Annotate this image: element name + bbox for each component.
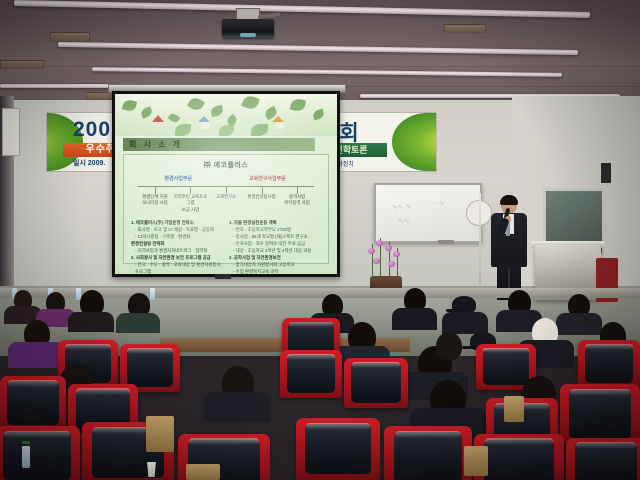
orchid-bloom (376, 240, 383, 246)
auditorium-seat (578, 340, 640, 388)
auditorium-seat (566, 438, 640, 480)
audience-shoulders (556, 313, 602, 335)
presenter (487, 196, 531, 300)
wall-speaker (601, 163, 611, 183)
projector-arm (258, 12, 280, 18)
org-node: 환경단체 지원모니터링 사업 (138, 194, 173, 207)
auditorium-seat (0, 376, 66, 430)
seat-writing-desk (504, 396, 524, 422)
orchid-bloom (388, 261, 395, 267)
projector-lens (240, 33, 256, 37)
water-bottle (22, 446, 30, 468)
village-house-icon (201, 121, 210, 129)
auditorium-seat (384, 426, 472, 480)
village-roof-icon (198, 116, 210, 122)
village-roof-icon (272, 116, 284, 122)
village-house-icon (275, 121, 284, 129)
org-node: 교재연구소 (209, 194, 244, 200)
screen-pull-tab (215, 274, 231, 279)
auditorium-seat (344, 358, 408, 408)
audience-shoulders (116, 313, 160, 333)
audience-shoulders (204, 392, 270, 422)
seat-writing-desk (186, 464, 220, 480)
banner-year: 200 (73, 118, 111, 142)
ceiling-light (58, 42, 578, 55)
audience-shoulders (442, 312, 488, 334)
org-node: 용역사업위탁용역 사업 (280, 194, 315, 207)
orchid-bloom (368, 248, 375, 254)
slide-column-left: 1. 에코플러스(주) 기업운영 전략소 - 회사명 · 로고 및 CI 제정 … (131, 219, 223, 274)
audience-shoulders (8, 342, 64, 368)
auditorium-seat (0, 426, 80, 480)
audience-shoulders (68, 312, 114, 332)
water-bottle (150, 288, 155, 300)
slide-body: ㈜ 에코플러스 환경사업부문 교육연구사업부문 환경단체 지원모니터링 사업 지… (123, 154, 329, 264)
projection-screen-frame: 회 사 소 개 ㈜ 에코플러스 환경사업부문 교육연구사업부문 환경단체 지원모… (112, 91, 340, 277)
bottle-cap (22, 441, 30, 444)
audience-head (436, 332, 462, 360)
orchid-bloom (385, 245, 392, 251)
projection-screen: 회 사 소 개 ㈜ 에코플러스 환경사업부문 교육연구사업부문 환경단체 지원모… (115, 94, 337, 274)
slide-header-artwork (115, 94, 337, 136)
org-node: 지역주민 교육프로그램보급 사업 (173, 194, 208, 213)
whiteboard-marker-tray (438, 240, 454, 244)
slide-column-right: 1. 자율 환경실천운동 계획 - 연차 · 초등학교학부모 2700명 - 중… (229, 219, 321, 274)
slide-columns: 1. 에코플러스(주) 기업운영 전략소 - 회사명 · 로고 및 CI 제정 … (124, 217, 328, 274)
orchid-bloom (393, 251, 400, 257)
banner-chevron-icon (392, 113, 437, 171)
seat-writing-desk (464, 446, 488, 476)
auditorium-seat (560, 384, 640, 444)
ceiling-light (92, 67, 562, 77)
seat-writing-desk (146, 416, 174, 452)
org-group-label-left: 환경사업부문 (165, 175, 193, 182)
org-group-label-right: 교육연구사업부문 (249, 175, 286, 182)
org-node: 환경컨설팅사업 (244, 194, 279, 200)
audience-seating (0, 288, 640, 480)
slide-title-bar: 회 사 소 개 (123, 138, 315, 151)
ceiling-vent (444, 24, 486, 33)
presenter-hair (500, 195, 518, 205)
auditorium-seat (296, 418, 380, 480)
orchid-plant (362, 236, 410, 294)
ceiling-projector (222, 8, 274, 38)
slide-subtitle: ㈜ 에코플러스 (124, 160, 328, 170)
ceiling-vent (0, 60, 44, 69)
banner-date: 일시 2009. (73, 158, 105, 168)
ceiling-light (0, 84, 120, 88)
auditorium-scene: 200 우수취업자 일시 2009. 수회 전학토론 학교 환경정치 (0, 0, 640, 480)
village-roof-icon (152, 115, 164, 122)
audience-shoulders (392, 308, 437, 330)
ceiling-vent (50, 32, 90, 42)
auditorium-seat (280, 350, 342, 398)
slide-title: 회 사 소 개 (123, 138, 315, 151)
microphone-stand (479, 193, 481, 285)
orchid-bloom (373, 258, 380, 264)
ceiling-light (14, 0, 590, 18)
org-chart: 환경사업부문 교육연구사업부문 환경단체 지원모니터링 사업 지역주민 교육프로… (130, 175, 322, 217)
wall-poster (2, 108, 20, 156)
